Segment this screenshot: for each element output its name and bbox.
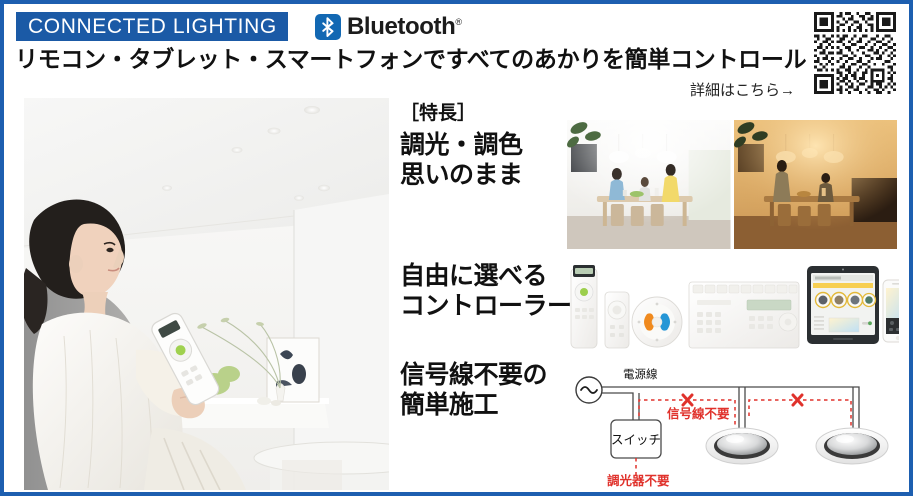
connected-lighting-banner: CONNECTED LIGHTING <box>16 12 288 41</box>
scene-comparison-photos <box>567 120 897 249</box>
feature-line: 調光・調色 <box>400 130 523 160</box>
feature-line: 信号線不要の <box>400 360 547 390</box>
feature-line: 思いのまま <box>400 160 523 190</box>
feature-item-controllers: 自由に選べる コントローラー <box>400 261 572 321</box>
feature-line: コントローラー <box>400 291 572 321</box>
qr-caption: 詳細はこちら→ <box>690 79 795 100</box>
feature-kicker: ［特長］ <box>400 98 476 125</box>
banner-label: CONNECTED LIGHTING <box>28 12 277 41</box>
svg-text:調光器不要: 調光器不要 <box>607 473 670 488</box>
bluetooth-wordmark: Bluetooth® <box>347 15 462 39</box>
advertisement-page: CONNECTED LIGHTING Bluetooth® リモコン・タブレット… <box>0 0 913 496</box>
warm-amber-dining-scene <box>734 120 898 249</box>
wiring-diagram: 電源線 スイッチ 信号線不要 調光器不要 <box>567 360 899 488</box>
bluetooth-wordmark-text: Bluetooth <box>347 13 455 40</box>
bluetooth-lockup: Bluetooth® <box>315 12 462 41</box>
page-headline: リモコン・タブレット・スマートフォンですべてのあかりを簡単コントロール <box>15 46 806 74</box>
feature-line: 自由に選べる <box>400 261 572 291</box>
svg-text:電源線: 電源線 <box>623 367 658 381</box>
svg-text:スイッチ: スイッチ <box>611 433 661 447</box>
feature-list: ［特長］ 調光・調色 思いのまま 自由に選べる コントローラー 信号線不要の 簡… <box>400 98 565 490</box>
registered-mark: ® <box>455 17 461 27</box>
bluetooth-rune-icon <box>315 14 341 40</box>
hero-lifestyle-photo <box>24 98 389 490</box>
cool-white-dining-scene <box>567 120 731 249</box>
feature-line: 簡単施工 <box>400 390 547 420</box>
page-header: CONNECTED LIGHTING Bluetooth® リモコン・タブレット… <box>4 4 909 90</box>
feature-item-wiring: 信号線不要の 簡単施工 <box>400 360 547 420</box>
feature-item-dimming: 調光・調色 思いのまま <box>400 130 523 190</box>
qr-code-icon[interactable] <box>814 12 896 94</box>
svg-text:信号線不要: 信号線不要 <box>667 406 730 421</box>
controller-lineup <box>567 260 899 352</box>
